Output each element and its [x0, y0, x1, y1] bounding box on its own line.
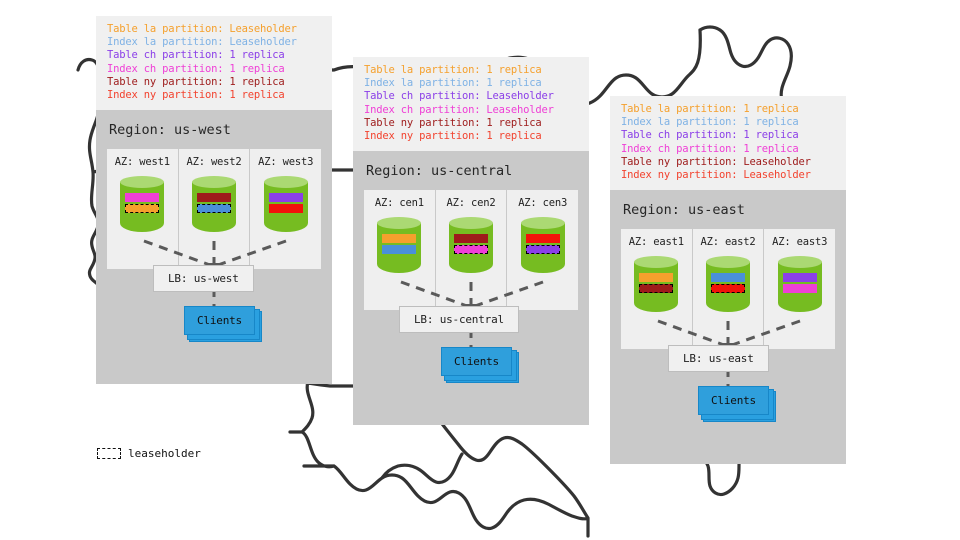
replica-band: [526, 234, 560, 243]
replica-band: [711, 273, 745, 282]
clients-box[interactable]: Clients: [441, 347, 512, 376]
partition-line: Table la partition: Leaseholder: [107, 23, 321, 36]
az-label: AZ: west1: [115, 156, 170, 168]
partition-line: Index la partition: 1 replica: [621, 116, 835, 129]
region-panel-us-central: Region: us-central AZ: cen1 AZ: cen2: [353, 151, 589, 425]
cylinder-bands: [382, 234, 416, 254]
replica-band: [639, 273, 673, 282]
database-cylinder[interactable]: [521, 217, 565, 279]
az-cell-west1[interactable]: AZ: west1: [107, 149, 178, 269]
az-cell-west2[interactable]: AZ: west2: [178, 149, 250, 269]
replica-band: [382, 234, 416, 243]
replica-band-leaseholder: [711, 284, 745, 293]
az-cell-cen2[interactable]: AZ: cen2: [435, 190, 507, 310]
partition-line: Index ch partition: Leaseholder: [364, 104, 578, 117]
leaseholder-legend: leaseholder: [97, 447, 201, 460]
az-label: AZ: east3: [772, 236, 827, 248]
az-label: AZ: east1: [629, 236, 684, 248]
clients-box[interactable]: Clients: [698, 386, 769, 415]
az-label: AZ: cen3: [518, 197, 567, 209]
region-panel-us-east: Region: us-east AZ: east1 AZ: east2: [610, 190, 846, 464]
leaseholder-legend-label: leaseholder: [128, 447, 201, 460]
cylinder-bands: [125, 193, 159, 213]
region-cluster-us-central: Table la partition: 1 replica Index la p…: [353, 57, 589, 425]
cylinder-bands: [197, 193, 231, 213]
az-strip-us-central: AZ: cen1 AZ: cen2: [364, 190, 578, 310]
az-label: AZ: cen1: [375, 197, 424, 209]
az-strip-us-east: AZ: east1 AZ: east2: [621, 229, 835, 349]
replica-band-leaseholder: [526, 245, 560, 254]
database-cylinder[interactable]: [778, 256, 822, 318]
replica-band-leaseholder: [639, 284, 673, 293]
partition-line: Table ny partition: 1 replica: [107, 76, 321, 89]
az-label: AZ: west2: [186, 156, 241, 168]
region-panel-us-west: Region: us-west AZ: west1 AZ: west2: [96, 110, 332, 384]
az-strip-us-west: AZ: west1 AZ: west2: [107, 149, 321, 269]
cylinder-bands: [783, 273, 817, 293]
cylinder-bands: [639, 273, 673, 293]
region-title: Region: us-east: [623, 202, 835, 218]
cylinder-bands: [454, 234, 488, 254]
partition-line: Index ny partition: 1 replica: [364, 130, 578, 143]
partition-legend-us-central: Table la partition: 1 replica Index la p…: [353, 57, 589, 151]
cylinder-bands: [711, 273, 745, 293]
replica-band: [783, 284, 817, 293]
partition-line: Table ch partition: 1 replica: [621, 129, 835, 142]
partition-line: Index la partition: Leaseholder: [107, 36, 321, 49]
partition-line: Table ny partition: Leaseholder: [621, 156, 835, 169]
replica-band: [269, 204, 303, 213]
replica-band-leaseholder: [197, 204, 231, 213]
partition-line: Table la partition: 1 replica: [364, 64, 578, 77]
replica-band: [783, 273, 817, 282]
az-cell-east1[interactable]: AZ: east1: [621, 229, 692, 349]
region-title: Region: us-central: [366, 163, 578, 179]
lb-box-us-west[interactable]: LB: us-west: [153, 265, 254, 292]
partition-legend-us-east: Table la partition: 1 replica Index la p…: [610, 96, 846, 190]
partition-line: Index ny partition: 1 replica: [107, 89, 321, 102]
partition-line: Table la partition: 1 replica: [621, 103, 835, 116]
cylinder-bands: [526, 234, 560, 254]
lb-box-us-central[interactable]: LB: us-central: [399, 306, 519, 333]
partition-line: Table ny partition: 1 replica: [364, 117, 578, 130]
database-cylinder[interactable]: [634, 256, 678, 318]
partition-line: Index ch partition: 1 replica: [621, 143, 835, 156]
az-cell-cen3[interactable]: AZ: cen3: [506, 190, 578, 310]
region-title: Region: us-west: [109, 122, 321, 138]
az-cell-east2[interactable]: AZ: east2: [692, 229, 764, 349]
partition-line: Index ny partition: Leaseholder: [621, 169, 835, 182]
replica-band: [125, 193, 159, 202]
partition-line: Table ch partition: 1 replica: [107, 49, 321, 62]
clients-us-east[interactable]: Clients: [698, 386, 769, 415]
clients-us-central[interactable]: Clients: [441, 347, 512, 376]
replica-band: [269, 193, 303, 202]
az-label: AZ: cen2: [447, 197, 496, 209]
replica-band: [197, 193, 231, 202]
clients-us-west[interactable]: Clients: [184, 306, 255, 335]
replica-band: [382, 245, 416, 254]
partition-line: Table ch partition: Leaseholder: [364, 90, 578, 103]
database-cylinder[interactable]: [377, 217, 421, 279]
replica-band-leaseholder: [125, 204, 159, 213]
partition-line: Index ch partition: 1 replica: [107, 63, 321, 76]
az-cell-cen1[interactable]: AZ: cen1: [364, 190, 435, 310]
database-cylinder[interactable]: [192, 176, 236, 238]
dashed-rect-icon: [97, 448, 121, 459]
database-cylinder[interactable]: [120, 176, 164, 238]
database-cylinder[interactable]: [264, 176, 308, 238]
az-cell-east3[interactable]: AZ: east3: [763, 229, 835, 349]
az-label: AZ: west3: [258, 156, 313, 168]
region-cluster-us-west: Table la partition: Leaseholder Index la…: [96, 16, 332, 384]
cylinder-bands: [269, 193, 303, 213]
lb-box-us-east[interactable]: LB: us-east: [668, 345, 769, 372]
database-cylinder[interactable]: [449, 217, 493, 279]
database-cylinder[interactable]: [706, 256, 750, 318]
clients-box[interactable]: Clients: [184, 306, 255, 335]
partition-legend-us-west: Table la partition: Leaseholder Index la…: [96, 16, 332, 110]
replica-band-leaseholder: [454, 245, 488, 254]
partition-line: Index la partition: 1 replica: [364, 77, 578, 90]
az-cell-west3[interactable]: AZ: west3: [249, 149, 321, 269]
replica-band: [454, 234, 488, 243]
az-label: AZ: east2: [700, 236, 755, 248]
region-cluster-us-east: Table la partition: 1 replica Index la p…: [610, 96, 846, 464]
